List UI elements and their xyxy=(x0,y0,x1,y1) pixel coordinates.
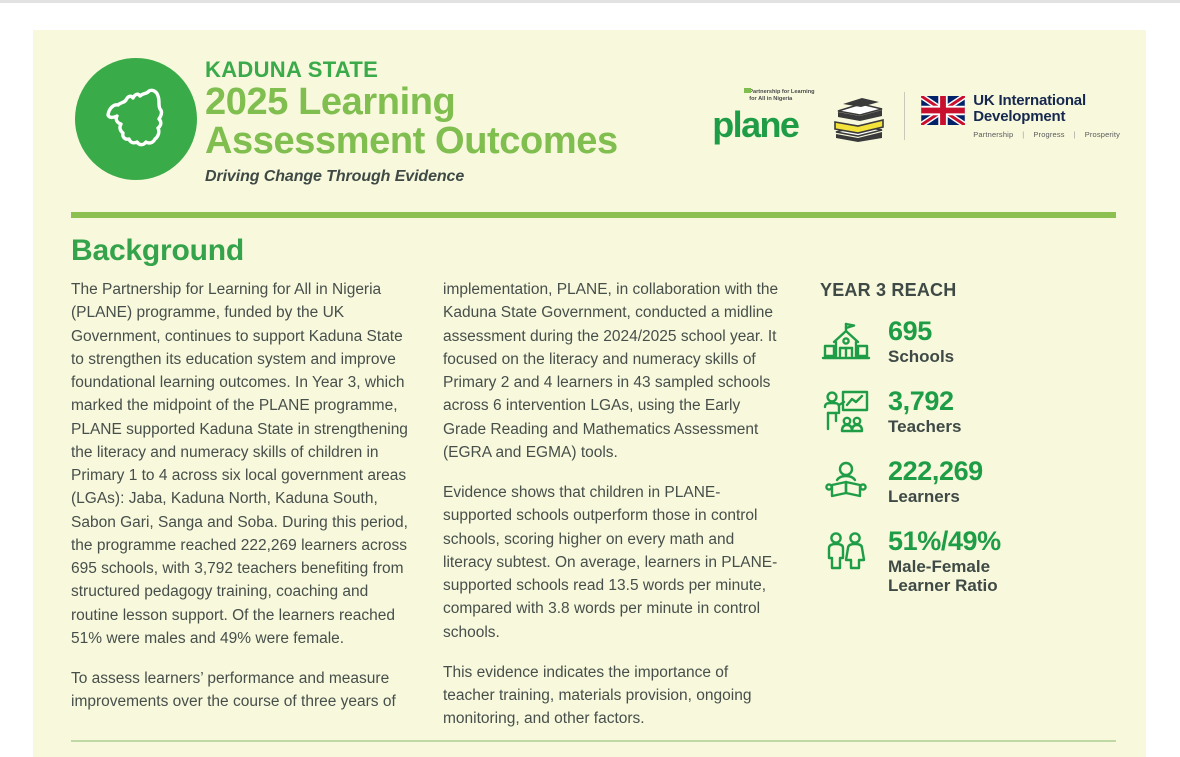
section-title-background: Background xyxy=(71,234,1146,268)
stat-value: 695 xyxy=(888,318,954,345)
stat-teachers: 3,792 Teachers xyxy=(820,387,1115,437)
header-titles: KADUNA STATE 2025 Learning Assessment Ou… xyxy=(205,58,618,186)
uk-tagline-separator-1: | xyxy=(1022,130,1024,139)
stat-label: Schools xyxy=(888,347,954,366)
uk-logo-line2: Development xyxy=(973,109,1120,125)
paragraph: The Partnership for Learning for All in … xyxy=(71,278,409,650)
uk-international-development-logo: UK International Development Partnership… xyxy=(921,93,1120,139)
uk-tagline-partnership: Partnership xyxy=(973,130,1013,139)
stat-value: 3,792 xyxy=(888,388,961,415)
stat-value: 51%/49% xyxy=(888,528,1001,555)
plane-wordmark: plane xyxy=(712,104,798,146)
paragraph: To assess learners’ performance and meas… xyxy=(71,667,409,714)
page-title-line2: Assessment Outcomes xyxy=(205,122,618,161)
stat-learners: 222,269 Learners xyxy=(820,457,1115,507)
document-header: KADUNA STATE 2025 Learning Assessment Ou… xyxy=(33,30,1146,212)
header-logos: Partnership for Learning for All in Nige… xyxy=(714,90,1120,142)
uk-tagline-separator-2: | xyxy=(1074,130,1076,139)
union-jack-flag-icon xyxy=(921,96,965,125)
year-3-reach-panel: YEAR 3 REACH xyxy=(815,278,1115,731)
plane-tagline-line1: Partnership for Learning xyxy=(749,89,814,95)
header-divider xyxy=(71,212,1116,218)
stacked-books-icon xyxy=(830,94,888,142)
stat-label: Male-Female Learner Ratio xyxy=(888,557,1001,595)
header-kicker: KADUNA STATE xyxy=(205,58,618,82)
logo-divider xyxy=(904,92,905,140)
uk-tagline-prosperity: Prosperity xyxy=(1085,130,1120,139)
header-subtitle: Driving Change Through Evidence xyxy=(205,168,618,186)
paragraph: implementation, PLANE, in collaboration … xyxy=(443,278,781,464)
window-top-strip xyxy=(0,0,1180,3)
plane-tagline-line2: for All in Nigeria xyxy=(749,96,792,102)
uk-logo-line1: UK International xyxy=(973,93,1120,109)
kaduna-state-map-icon xyxy=(75,58,197,180)
background-column-2: implementation, PLANE, in collaboration … xyxy=(443,278,815,731)
paragraph: This evidence indicates the importance o… xyxy=(443,661,781,731)
paragraph: Evidence shows that children in PLANE-su… xyxy=(443,481,781,644)
background-column-1: The Partnership for Learning for All in … xyxy=(71,278,443,731)
uk-tagline-progress: Progress xyxy=(1033,130,1064,139)
stat-label: Learners xyxy=(888,487,983,506)
stat-value: 222,269 xyxy=(888,458,983,485)
two-people-icon xyxy=(820,527,872,577)
stat-male-female-ratio: 51%/49% Male-Female Learner Ratio xyxy=(820,527,1115,595)
stat-label: Teachers xyxy=(888,417,961,436)
school-building-icon xyxy=(820,317,872,367)
stat-schools: 695 Schools xyxy=(820,317,1115,367)
plane-logo: Partnership for Learning for All in Nige… xyxy=(714,90,888,142)
year-3-reach-title: YEAR 3 REACH xyxy=(820,280,1115,301)
content-columns: The Partnership for Learning for All in … xyxy=(33,278,1146,731)
pencil-icon xyxy=(743,88,752,104)
footer-divider xyxy=(71,740,1116,742)
teacher-presenting-icon xyxy=(820,387,872,437)
page-title-line1: 2025 Learning xyxy=(205,83,618,122)
document-page: KADUNA STATE 2025 Learning Assessment Ou… xyxy=(33,30,1146,757)
learner-reading-book-icon xyxy=(820,457,872,507)
